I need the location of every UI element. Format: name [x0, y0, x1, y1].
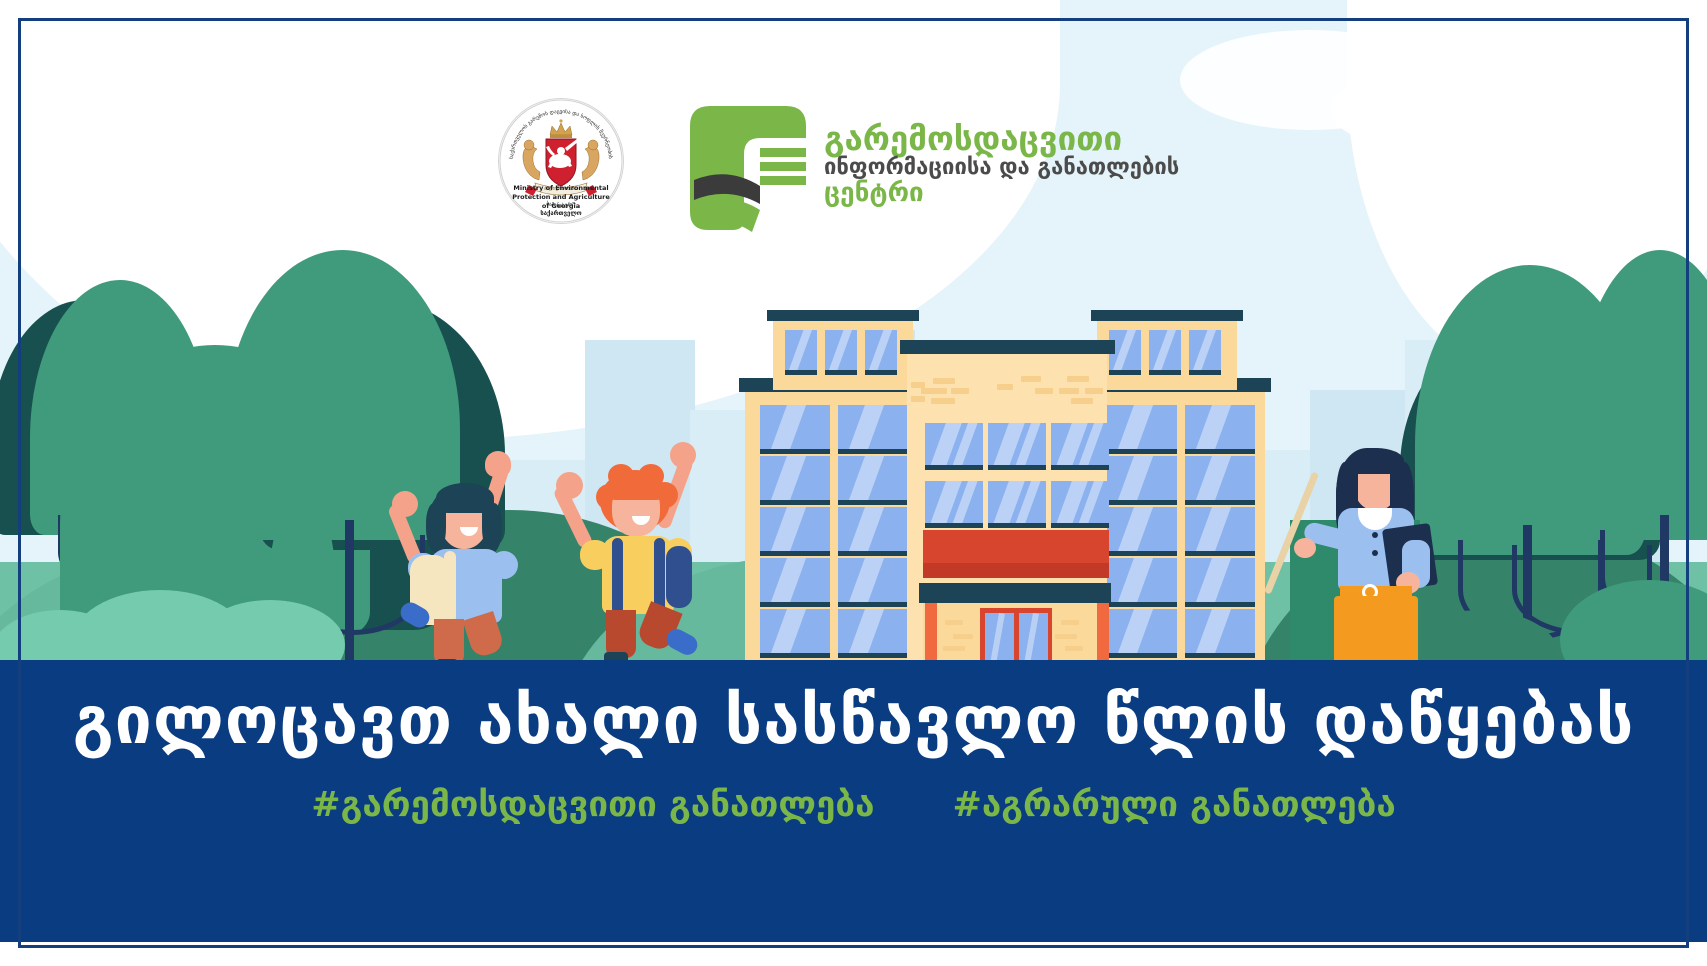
seal-caption-line2: Protection and Agriculture	[499, 193, 623, 201]
center-logo-line2: ინფორმაციისა და განათლების	[824, 156, 1124, 180]
teacher-with-pointer	[1310, 440, 1460, 670]
child-girl-waving	[390, 455, 560, 675]
conifer-tree	[300, 470, 340, 590]
center-logo-text: გარემოსდაცვითი ინფორმაციისა და განათლები…	[824, 122, 1124, 207]
ministry-seal: საქართველოს გარემოს დაცვისა და სოფლის მე…	[498, 98, 624, 224]
bottom-banner: გილოცავთ ახალი სასწავლო წლის დაწყებას #გ…	[0, 660, 1707, 942]
hashtag-environmental-education: #გარემოსდაცვითი განათლება	[311, 785, 874, 825]
seal-caption-line4: საქართველო	[499, 210, 623, 217]
center-logo-line3: ცენტრი	[824, 180, 1124, 207]
hashtag-row: #გარემოსდაცვითი განათლება #აგრარული განა…	[0, 785, 1707, 825]
center-logo-mark	[682, 100, 822, 236]
seal-caption-line3: of Georgia	[499, 202, 623, 210]
seal-caption-line1: Ministry of Environmental	[499, 184, 623, 192]
hashtag-agrarian-education: #აგრარული განათლება	[953, 785, 1396, 825]
poster-root: საქართველოს გარემოს დაცვისა და სოფლის მე…	[0, 0, 1707, 966]
logo-row: საქართველოს გარემოს დაცვისა და სოფლის მე…	[0, 46, 1707, 196]
center-logo: გარემოსდაცვითი ინფორმაციისა და განათლები…	[672, 96, 1122, 236]
child-boy-waving	[550, 450, 730, 680]
school-building	[735, 278, 1275, 670]
center-logo-line1: გარემოსდაცვითი	[824, 122, 1124, 156]
headline: გილოცავთ ახალი სასწავლო წლის დაწყებას	[0, 682, 1707, 759]
